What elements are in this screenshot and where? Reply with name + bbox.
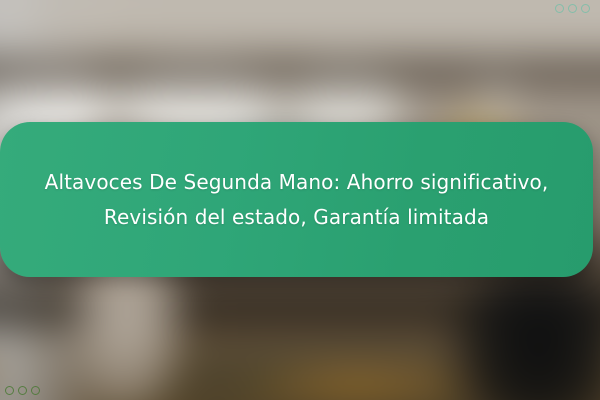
top-right-marker-group bbox=[555, 4, 590, 13]
headline-line-2: Revisión del estado, Garantía limitada bbox=[104, 205, 489, 229]
circle-marker-icon bbox=[5, 386, 14, 395]
screenshot-canvas: Altavoces De Segunda Mano: Ahorro signif… bbox=[0, 0, 600, 400]
headline-text: Altavoces De Segunda Mano: Ahorro signif… bbox=[45, 165, 549, 234]
circle-marker-icon bbox=[581, 4, 590, 13]
circle-marker-icon bbox=[31, 386, 40, 395]
headline-banner: Altavoces De Segunda Mano: Ahorro signif… bbox=[0, 122, 593, 277]
circle-marker-icon bbox=[18, 386, 27, 395]
headline-line-1: Altavoces De Segunda Mano: Ahorro signif… bbox=[45, 170, 549, 194]
circle-marker-icon bbox=[555, 4, 564, 13]
circle-marker-icon bbox=[568, 4, 577, 13]
bottom-left-marker-group bbox=[5, 386, 40, 395]
